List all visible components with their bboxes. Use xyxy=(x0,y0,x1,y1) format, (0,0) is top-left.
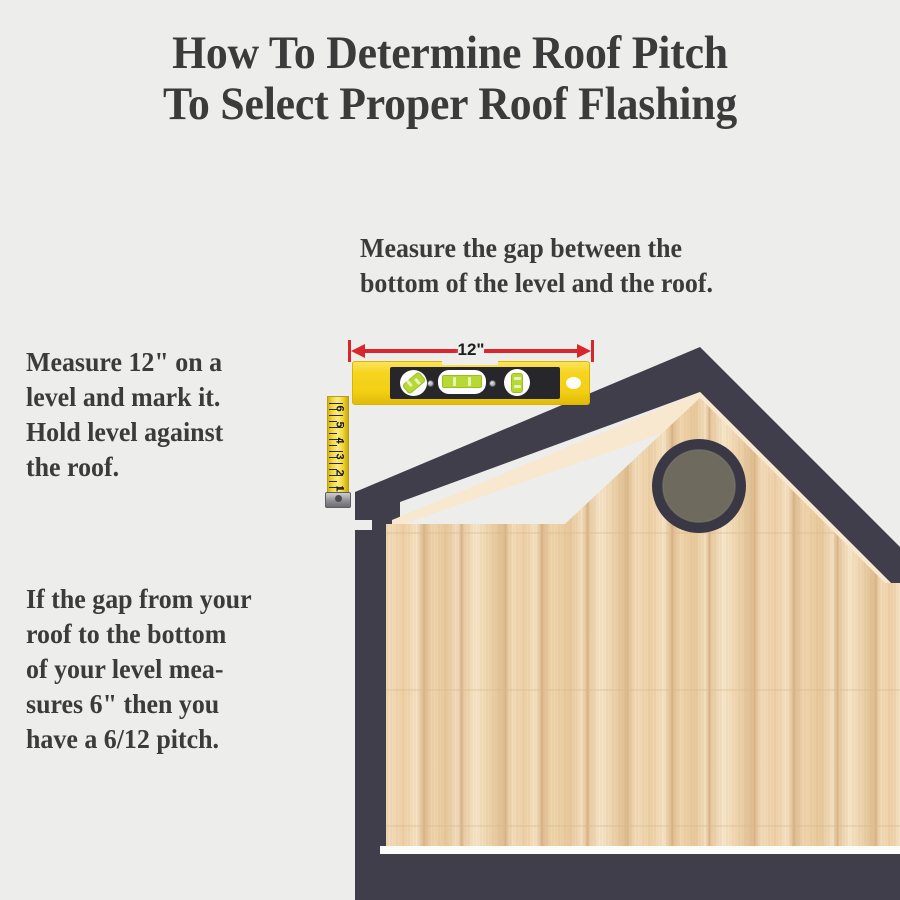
wall-left-edge xyxy=(355,492,386,852)
callout-level-line-4: the roof. xyxy=(26,450,333,485)
vertical-vial-liquid xyxy=(511,373,523,393)
callout-pitch-line-1: If the gap from your xyxy=(26,582,343,617)
callout-pitch-line-3: of your level mea- xyxy=(26,652,343,687)
callout-measure-gap: Measure the gap between the bottom of th… xyxy=(360,231,859,301)
callout-level-line-2: level and mark it. xyxy=(26,380,333,415)
round-window xyxy=(652,439,746,533)
tape-hook xyxy=(325,492,351,508)
level-screw-left xyxy=(427,380,434,387)
horizontal-vial-liquid xyxy=(442,375,482,388)
callout-pitch-line-4: sures 6" then you xyxy=(26,687,343,722)
vertical-vial-mark-1 xyxy=(514,377,521,380)
vertical-vial-mark-2 xyxy=(514,385,521,388)
callout-level-line-3: Hold level against xyxy=(26,415,333,450)
level-top-notch xyxy=(442,360,498,365)
dimension-arrow-12in: 12" xyxy=(348,340,594,362)
callout-pitch-line-2: roof to the bottom xyxy=(26,617,343,652)
torpedo-level xyxy=(352,361,590,405)
roof-pitch-infographic: How To Determine Roof Pitch To Select Pr… xyxy=(0,0,900,900)
callout-gap-line-1: Measure the gap between the xyxy=(360,231,859,266)
callout-pitch-result: If the gap from your roof to the bottom … xyxy=(26,582,343,757)
foundation-band xyxy=(355,846,900,900)
horizontal-vial-mark-2 xyxy=(468,377,471,386)
dimension-label: 12" xyxy=(348,339,594,361)
callout-measure-level: Measure 12" on a level and mark it. Hold… xyxy=(26,345,333,485)
callout-level-line-1: Measure 12" on a xyxy=(26,345,333,380)
callout-gap-line-2: bottom of the level and the roof. xyxy=(360,266,859,301)
level-hang-hole xyxy=(566,377,581,389)
horizontal-vial-mark-1 xyxy=(453,377,456,386)
level-screw-right xyxy=(489,380,496,387)
callout-pitch-line-5: have a 6/12 pitch. xyxy=(26,722,343,757)
